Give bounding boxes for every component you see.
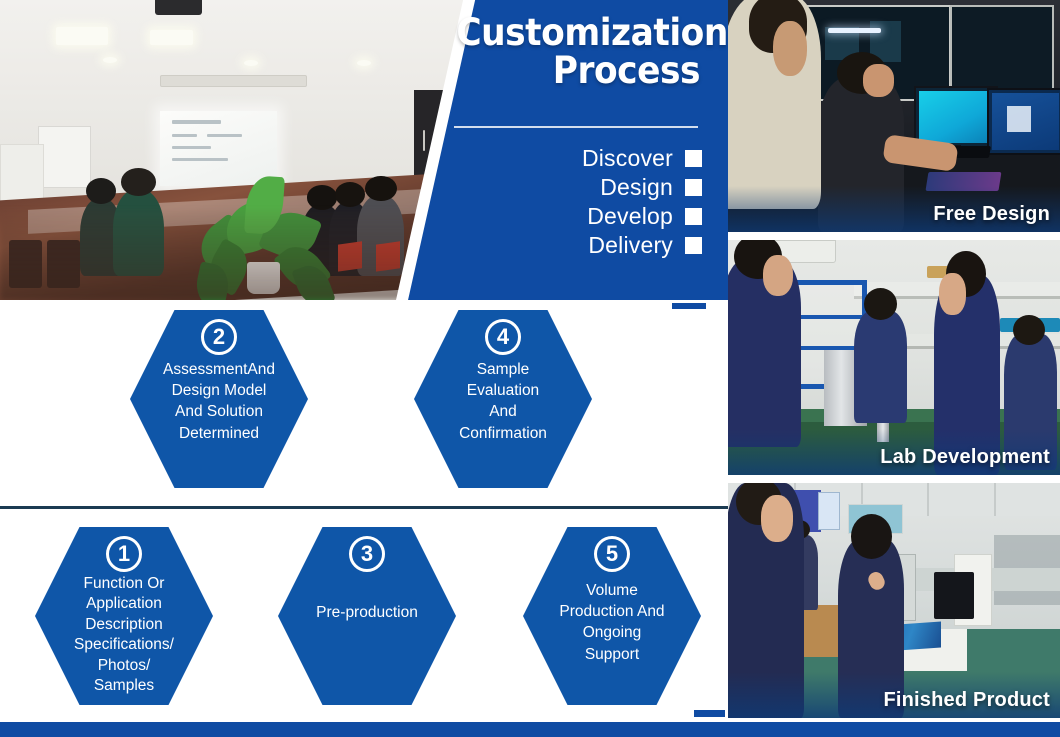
monitor [934, 572, 974, 619]
hero-step-delivery: Delivery [442, 231, 702, 260]
step-number-badge: 1 [106, 536, 142, 572]
photo-label: Finished Product [883, 689, 1050, 712]
white-square-icon [685, 179, 702, 196]
step-text: Function Or Application Description Spec… [68, 574, 180, 697]
photo-column: Free Design Lab Development [728, 0, 1060, 737]
white-square-icon [685, 237, 702, 254]
air-conditioner [160, 75, 308, 87]
whiteboard [38, 126, 92, 188]
step-number-badge: 3 [349, 536, 385, 572]
step-number-badge: 2 [201, 319, 237, 355]
photo-free-design[interactable]: Free Design [728, 0, 1060, 232]
step-number-badge: 4 [485, 319, 521, 355]
window [950, 5, 1054, 93]
title-line-2: Process [456, 52, 700, 90]
photo-label: Free Design [933, 203, 1050, 226]
ceiling-light [56, 27, 108, 45]
photo-label: Lab Development [880, 446, 1050, 469]
hex-body: 1 Function Or Application Description Sp… [35, 527, 213, 705]
process-step-5[interactable]: 5 Volume Production And Ongoing Support [523, 527, 701, 705]
hex-body: 5 Volume Production And Ongoing Support [523, 527, 701, 705]
page-title: Customization Process [456, 14, 700, 89]
hex-body: 4 Sample Evaluation And Confirmation [414, 310, 592, 488]
step-text: Pre-production [310, 602, 424, 623]
title-underline [454, 126, 698, 128]
bottom-brand-bar [0, 722, 1060, 737]
hero-step-list: Discover Design Develop Delivery [442, 144, 702, 260]
white-square-icon [685, 208, 702, 225]
monitor-left [914, 86, 998, 148]
customization-process-infographic: Customization Process Discover Design De… [0, 0, 1060, 737]
accent-dash-bottom [694, 710, 725, 717]
hero-step-label: Discover [582, 145, 673, 172]
hex-body: 2 AssessmentAnd Design Model And Solutio… [130, 310, 308, 488]
meeting-room-photo [0, 0, 470, 300]
section-divider [0, 506, 728, 509]
process-step-2[interactable]: 2 AssessmentAnd Design Model And Solutio… [130, 310, 308, 488]
technician [728, 259, 801, 447]
hero-step-develop: Develop [442, 202, 702, 231]
projector-icon [155, 0, 202, 15]
hero-step-label: Develop [587, 203, 673, 230]
left-column: Customization Process Discover Design De… [0, 0, 728, 737]
process-step-4[interactable]: 4 Sample Evaluation And Confirmation [414, 310, 592, 488]
standing-engineer [728, 0, 821, 209]
hero-banner: Customization Process Discover Design De… [0, 0, 728, 300]
process-step-1[interactable]: 1 Function Or Application Description Sp… [35, 527, 213, 705]
hero-step-label: Delivery [588, 232, 673, 259]
hero-step-discover: Discover [442, 144, 702, 173]
wall-poster [818, 492, 840, 529]
arm [866, 569, 887, 591]
photo-lab-development[interactable]: Lab Development [728, 240, 1060, 475]
ceiling-light [150, 30, 192, 45]
white-square-icon [685, 150, 702, 167]
hero-step-design: Design [442, 173, 702, 202]
monitor-right [987, 88, 1060, 155]
step-number-badge: 5 [594, 536, 630, 572]
hero-step-label: Design [600, 174, 673, 201]
technician [854, 311, 907, 424]
photo-finished-product[interactable]: Finished Product [728, 483, 1060, 718]
process-step-3[interactable]: 3 Pre-production [278, 527, 456, 705]
title-line-1: Customization [456, 14, 700, 52]
hex-body: 3 Pre-production [278, 527, 456, 705]
accent-dash-top [672, 303, 706, 309]
step-text: Volume Production And Ongoing Support [553, 580, 670, 665]
step-text: AssessmentAnd Design Model And Solution … [157, 359, 281, 444]
step-text: Sample Evaluation And Confirmation [453, 359, 553, 444]
ceiling-tube-light [828, 28, 881, 34]
